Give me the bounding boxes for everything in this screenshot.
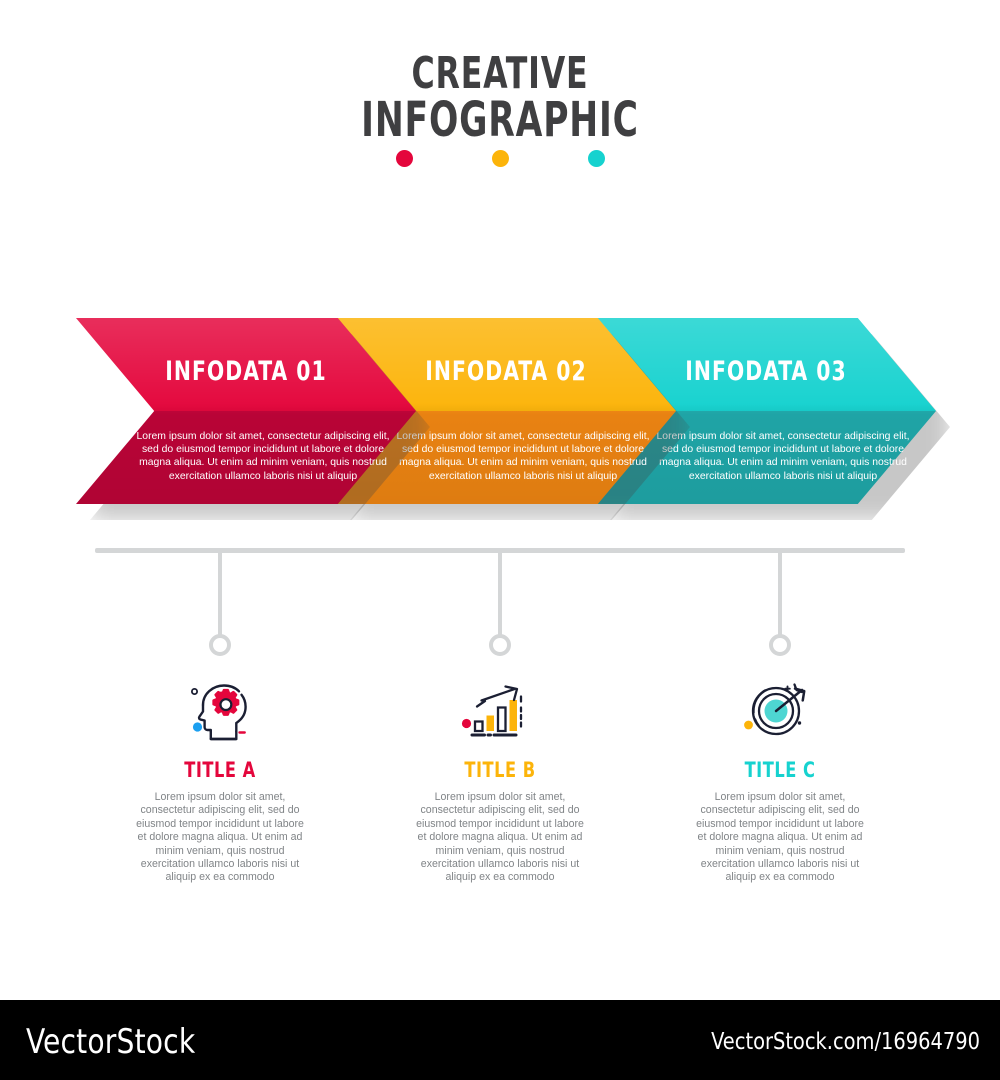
page-title: CREATIVE INFOGRAPHIC [0,52,1000,144]
column-description: Lorem ipsum dolor sit amet, consectetur … [131,791,309,885]
infographic-canvas: CREATIVE INFOGRAPHIC INFODATA 01 Lorem i… [0,0,1000,1000]
arrow-label: INFODATA 01 [103,356,389,387]
detail-column-b: TITLE B Lorem ipsum dolor sit amet, cons… [385,672,615,885]
timeline-node-3 [769,634,791,656]
detail-columns: TITLE A Lorem ipsum dolor sit amet, cons… [0,672,1000,932]
dot-teal-icon [588,150,605,167]
title-line-1: CREATIVE [100,52,900,95]
watermark-bar: VectorStock VectorStock.com/16964790 [0,1000,1000,1080]
dot-red-icon [396,150,413,167]
arrow-description: Lorem ipsum dolor sit amet, consectetur … [392,430,654,483]
target-with-arrow-icon [665,672,895,748]
watermark-brand: VectorStock [26,1022,195,1062]
title-line-2: INFOGRAPHIC [100,97,900,144]
watermark-url: VectorStock.com/16964790 [711,1029,980,1055]
head-with-gear-icon [105,672,335,748]
timeline-node-2 [489,634,511,656]
timeline-stem-1 [218,552,222,638]
growth-bar-chart-icon [385,672,615,748]
arrow-description: Lorem ipsum dolor sit amet, consectetur … [652,430,914,483]
timeline-connector [0,548,1000,668]
dot-amber-icon [492,150,509,167]
timeline-node-1 [209,634,231,656]
arrow-steps-row: INFODATA 01 Lorem ipsum dolor sit amet, … [0,318,1000,538]
timeline-stem-2 [498,552,502,638]
arrow-description: Lorem ipsum dolor sit amet, consectetur … [132,430,394,483]
column-description: Lorem ipsum dolor sit amet, consectetur … [411,791,589,885]
title-accent-dots [0,150,1000,167]
timeline-stem-3 [778,552,782,638]
column-title: TITLE B [401,758,599,782]
detail-column-c: TITLE C Lorem ipsum dolor sit amet, cons… [665,672,895,885]
column-title: TITLE A [121,758,319,782]
column-description: Lorem ipsum dolor sit amet, consectetur … [691,791,869,885]
arrow-step-1[interactable]: INFODATA 01 Lorem ipsum dolor sit amet, … [76,318,428,528]
detail-column-a: TITLE A Lorem ipsum dolor sit amet, cons… [105,672,335,885]
column-title: TITLE C [681,758,879,782]
